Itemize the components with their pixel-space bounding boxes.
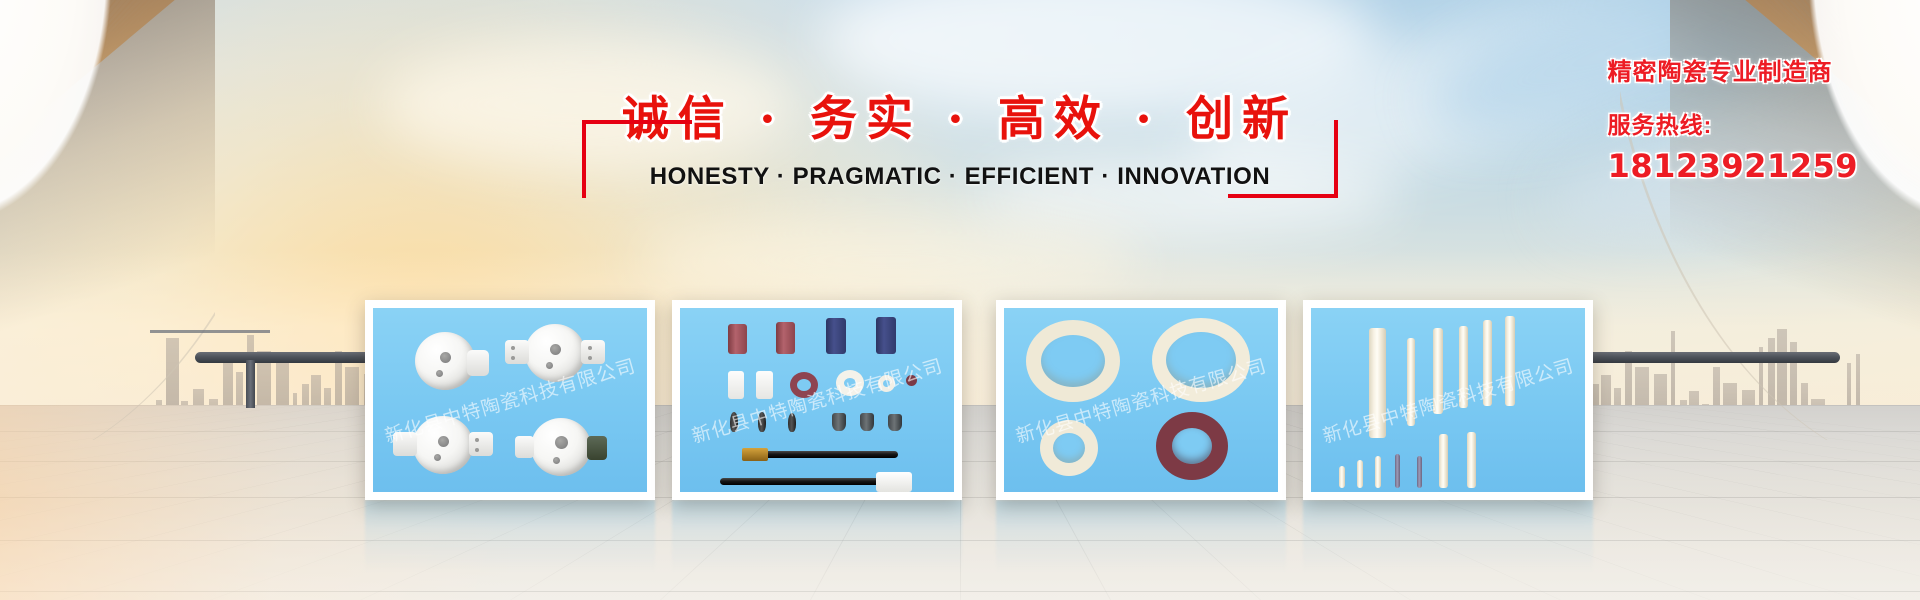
ceramic-pin <box>1357 460 1363 488</box>
panel-reflection <box>996 500 1286 572</box>
ceramic-ring-large <box>1026 320 1120 402</box>
product-panel-1[interactable]: 新化县中特陶瓷科技有限公司 <box>365 300 655 500</box>
bracket-left-icon <box>582 120 692 198</box>
ceramic-pin <box>1339 466 1345 488</box>
contact-hotline-label: 服务热线: <box>1608 106 1858 140</box>
panel-reflection <box>365 500 655 572</box>
cable-assembly <box>758 451 898 458</box>
contact-tagline: 精密陶瓷专业制造商 <box>1608 52 1858 87</box>
product-panel-row: 新化县中特陶瓷科技有限公司 <box>0 300 1920 500</box>
ceramic-ring-small <box>1040 420 1098 476</box>
ceramic-ring <box>906 375 917 386</box>
panel-watermark: 新化县中特陶瓷科技有限公司 <box>688 351 945 449</box>
ceramic-plate <box>728 371 744 399</box>
ceramic-ring <box>836 370 864 396</box>
metal-clip <box>888 414 902 431</box>
ceramic-ring <box>878 375 895 392</box>
ceramic-pin <box>1395 454 1400 488</box>
ceramic-rod <box>1369 328 1386 438</box>
ceramic-tube <box>776 322 795 354</box>
cable-terminal <box>742 448 768 461</box>
ceramic-pin <box>1467 432 1476 488</box>
bracket-right-icon <box>1228 120 1338 198</box>
ceramic-pin <box>1439 434 1448 488</box>
panel-watermark: 新化县中特陶瓷科技有限公司 <box>1319 351 1576 449</box>
metal-clip <box>832 413 846 431</box>
cable-connector <box>876 472 912 492</box>
ceramic-tube <box>728 324 747 354</box>
product-panel-2[interactable]: 新化县中特陶瓷科技有限公司 <box>672 300 962 500</box>
ceramic-rod <box>1505 316 1515 406</box>
contact-hotline-number[interactable]: 18123921259 <box>1608 147 1858 185</box>
ceramic-ring-large <box>1152 318 1250 402</box>
ceramic-pin <box>1417 456 1422 488</box>
ceramic-ring-red <box>1156 412 1228 480</box>
ceramic-rod <box>1433 328 1443 414</box>
panel-reflection <box>1303 500 1593 572</box>
ceramic-rod <box>1483 320 1492 406</box>
ceramic-rod <box>1407 338 1415 426</box>
ceramic-pin <box>1375 456 1381 488</box>
ceramic-insert <box>788 413 796 432</box>
cable-assembly <box>720 478 880 485</box>
hero-banner: 诚信 · 务实 · 高效 · 创新 HONESTY · PRAGMATIC · … <box>0 0 1920 600</box>
panel-reflection <box>672 500 962 572</box>
product-panel-3[interactable]: 新化县中特陶瓷科技有限公司 <box>996 300 1286 500</box>
ceramic-insert <box>758 412 766 432</box>
ceramic-insert <box>730 412 738 432</box>
ceramic-rod <box>1459 326 1468 408</box>
product-panel-4[interactable]: 新化县中特陶瓷科技有限公司 <box>1303 300 1593 500</box>
metal-clip <box>860 413 874 431</box>
ceramic-tube <box>826 318 846 354</box>
ceramic-ring <box>790 372 818 398</box>
contact-block: 精密陶瓷专业制造商 服务热线: 18123921259 <box>1608 52 1858 185</box>
ceramic-tube <box>876 317 896 354</box>
ceramic-plate <box>756 371 773 399</box>
